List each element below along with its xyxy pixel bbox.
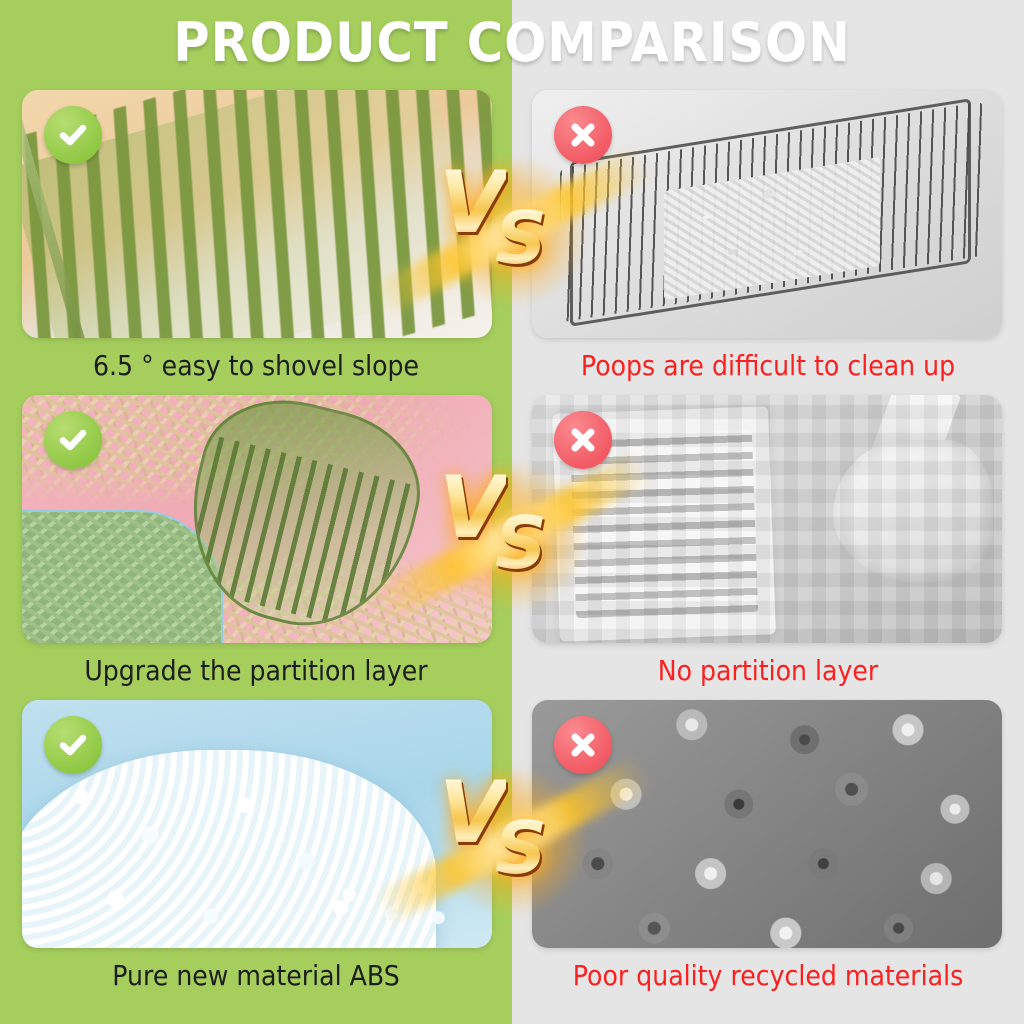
row-3-good-cell: Pure new material ABS	[0, 692, 512, 997]
check-icon	[56, 118, 90, 152]
close-icon	[567, 729, 599, 761]
row-2-good-cell: Upgrade the partition layer	[0, 387, 512, 692]
row-3-good-image-panel	[22, 700, 492, 948]
row-3-bad-cell: Poor quality recycled materials	[512, 692, 1024, 997]
cross-badge	[554, 106, 612, 164]
cross-badge	[554, 411, 612, 469]
row-2-bad-image-panel	[532, 395, 1002, 643]
row-1-good-image-panel	[22, 90, 492, 338]
row-1-bad-caption: Poops are difficult to clean up	[538, 344, 999, 386]
row-3-good-caption: Pure new material ABS	[26, 954, 487, 996]
comparison-row-1: 6.5 ° easy to shovel slope Poops are dif…	[0, 82, 1024, 387]
row-1-bad-image-panel	[532, 90, 1002, 338]
check-badge	[44, 716, 102, 774]
row-2-good-image-panel	[22, 395, 492, 643]
row-1-good-cell: 6.5 ° easy to shovel slope	[0, 82, 512, 387]
comparison-row-3: Pure new material ABS Poor quality recyc…	[0, 692, 1024, 997]
row-3-bad-image-panel	[532, 700, 1002, 948]
check-badge	[44, 106, 102, 164]
close-icon	[567, 424, 599, 456]
comparison-row-2: Upgrade the partition layer No partition…	[0, 387, 1024, 692]
cross-badge	[554, 716, 612, 774]
check-badge	[44, 411, 102, 469]
close-icon	[567, 119, 599, 151]
row-2-bad-caption: No partition layer	[538, 649, 999, 691]
row-3-bad-caption: Poor quality recycled materials	[538, 954, 999, 996]
check-icon	[56, 728, 90, 762]
product-comparison-infographic: PRODUCT COMPARISON 6.5 ° easy to shovel …	[0, 0, 1024, 1024]
page-title: PRODUCT COMPARISON	[41, 6, 983, 78]
row-2-good-caption: Upgrade the partition layer	[26, 649, 487, 691]
row-1-good-caption: 6.5 ° easy to shovel slope	[26, 344, 487, 386]
row-2-bad-cell: No partition layer	[512, 387, 1024, 692]
row-1-bad-cell: Poops are difficult to clean up	[512, 82, 1024, 387]
check-icon	[56, 423, 90, 457]
